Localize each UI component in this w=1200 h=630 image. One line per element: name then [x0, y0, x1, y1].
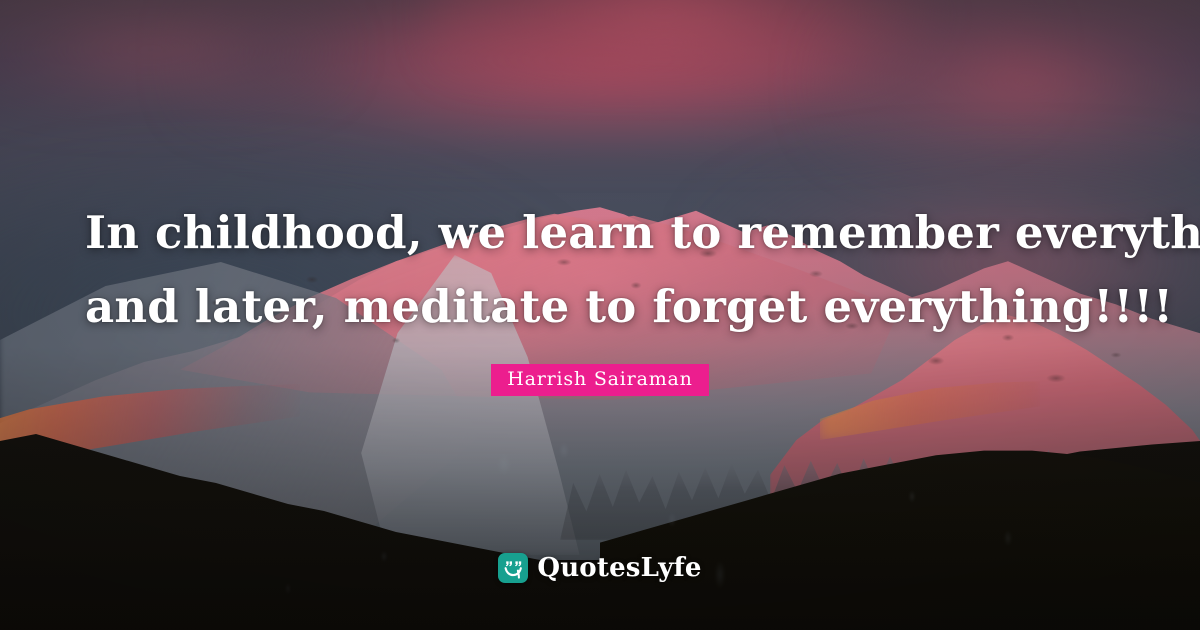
author-row: Harrish Sairaman — [0, 364, 1200, 396]
brand-logo[interactable]: QuotesLyfe — [0, 553, 1200, 583]
quote-card: In childhood, we learn to remember every… — [0, 0, 1200, 630]
author-badge: Harrish Sairaman — [491, 364, 708, 396]
quote-line-2: and later, meditate to forget everything… — [85, 270, 1115, 344]
quote-line-1: In childhood, we learn to remember every… — [85, 196, 1115, 270]
quote-smiley-icon — [498, 553, 528, 583]
card-content: In childhood, we learn to remember every… — [0, 0, 1200, 630]
quote-text: In childhood, we learn to remember every… — [85, 196, 1115, 344]
brand-name: QuotesLyfe — [537, 553, 701, 583]
